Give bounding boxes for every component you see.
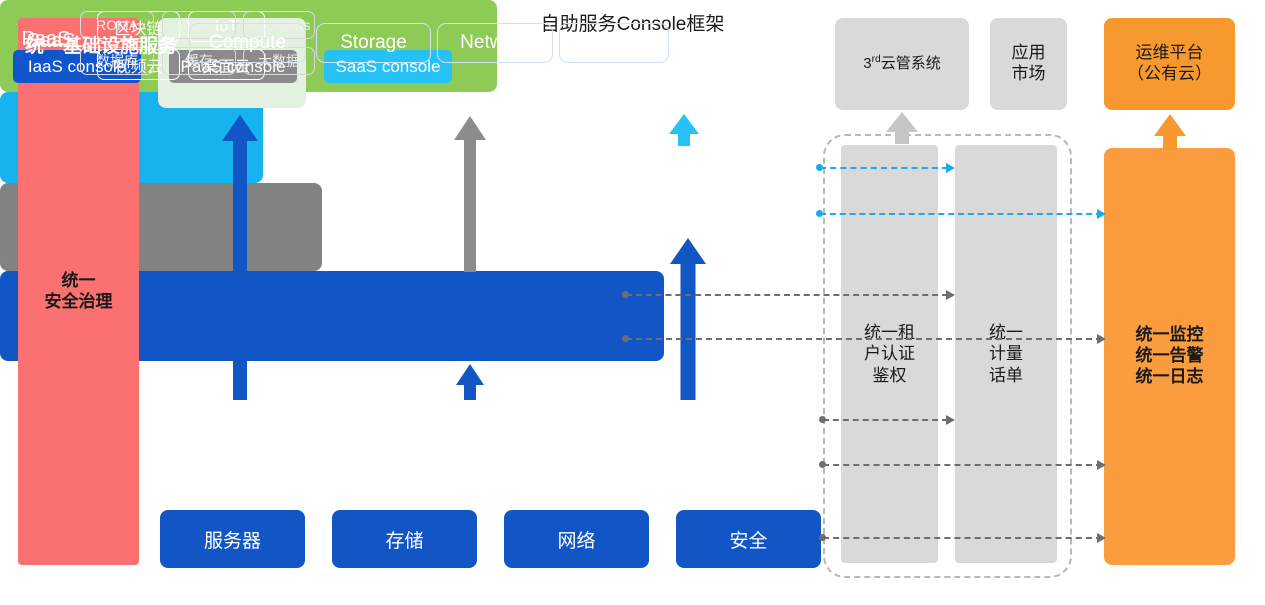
ops-platform-line1: 运维平台 [1127,43,1212,64]
tenant-auth-line2: 户认证 [864,343,915,364]
connector-hardware-to-ops [823,537,1102,539]
third-party-cloud-suffix: 云管系统 [881,55,941,72]
unified-metering-label: 统一 计量 话单 [989,322,1023,386]
ops-capabilities-line1: 统一监控 [1136,325,1204,346]
arrow-paas-to-console [454,116,486,272]
third-party-cloud-prefix: 3 [863,55,871,72]
arrow-ops-capabilities-to-ops-platform [1154,114,1186,150]
third-party-cloud-ordinal: rd [872,54,881,65]
unified-tenant-auth-column[interactable]: 统一租 户认证 鉴权 [841,145,938,563]
metering-line3: 话单 [989,365,1023,386]
third-party-cloud-management-box[interactable]: 3rd云管系统 [835,18,969,110]
ops-platform-line2: （公有云） [1127,64,1212,85]
app-market-line2: 市场 [1012,64,1046,85]
app-market-line1: 应用 [1012,43,1046,64]
security-governance-line1: 统一 [45,271,113,292]
app-market-label: 应用 市场 [1012,43,1046,84]
arrowhead-infra-to-tenant-auth [946,415,955,425]
arrowhead-paas-to-tenant-auth [946,290,955,300]
arrowhead-saas-to-tenant-auth [946,163,955,173]
hardware-item-network[interactable]: 网络 [504,510,649,568]
app-market-box[interactable]: 应用 市场 [990,18,1067,110]
connector-infra-to-tenant-auth [823,419,948,421]
arrow-shared-to-third-party-cloud [886,112,918,144]
third-party-cloud-label: 3rd云管系统 [863,54,940,73]
connector-saas-to-ops [820,213,1102,215]
arrowhead-saas-to-ops [1097,209,1106,219]
infra-service-network[interactable]: Network [437,23,553,63]
arrowhead-infra-to-ops [1097,460,1106,470]
arrow-infra-to-saas [670,238,706,400]
infra-service-cce[interactable]: CCE [559,23,669,63]
ops-platform-box[interactable]: 运维平台 （公有云） [1104,18,1235,110]
infrastructure-layer-label: 统一基础设施服务 [12,31,190,58]
hardware-item-security[interactable]: 安全 [676,510,821,568]
unified-security-governance-panel[interactable]: 统一 安全治理 [18,18,139,565]
arrowhead-paas-to-ops [1097,334,1106,344]
hardware-item-server[interactable]: 服务器 [160,510,305,568]
security-governance-label: 统一 安全治理 [45,271,113,312]
connector-saas-to-tenant-auth [820,167,948,169]
ops-capabilities-label: 统一监控 统一告警 统一日志 [1136,325,1204,387]
tenant-auth-line1: 统一租 [864,322,915,343]
metering-line2: 计量 [989,343,1023,364]
arrowhead-hardware-to-ops [1097,533,1106,543]
connector-paas-to-tenant-auth [626,294,948,296]
arrow-infra-to-paas [456,364,484,400]
tenant-auth-line3: 鉴权 [864,365,915,386]
ops-capabilities-line3: 统一日志 [1136,367,1204,388]
ops-capabilities-box[interactable]: 统一监控 统一告警 统一日志 [1104,148,1235,565]
connector-infra-to-ops [823,464,1102,466]
ops-platform-label: 运维平台 （公有云） [1127,43,1212,84]
connector-paas-to-ops [626,338,1102,340]
arrow-saas-to-console [669,114,699,146]
unified-metering-column[interactable]: 统一 计量 话单 [955,145,1057,563]
arrow-infra-to-api-gateway [222,115,258,400]
infra-service-compute[interactable]: Compute [189,23,306,63]
architecture-diagram: 统一 安全治理 API网关 自助服务Console框架 IaaS console… [0,0,1265,605]
hardware-item-storage[interactable]: 存储 [332,510,477,568]
ops-capabilities-line2: 统一告警 [1136,346,1204,367]
metering-line1: 统一 [989,322,1023,343]
infra-service-storage[interactable]: Storage [316,23,431,63]
unified-tenant-auth-label: 统一租 户认证 鉴权 [864,322,915,386]
security-governance-line2: 安全治理 [45,292,113,313]
